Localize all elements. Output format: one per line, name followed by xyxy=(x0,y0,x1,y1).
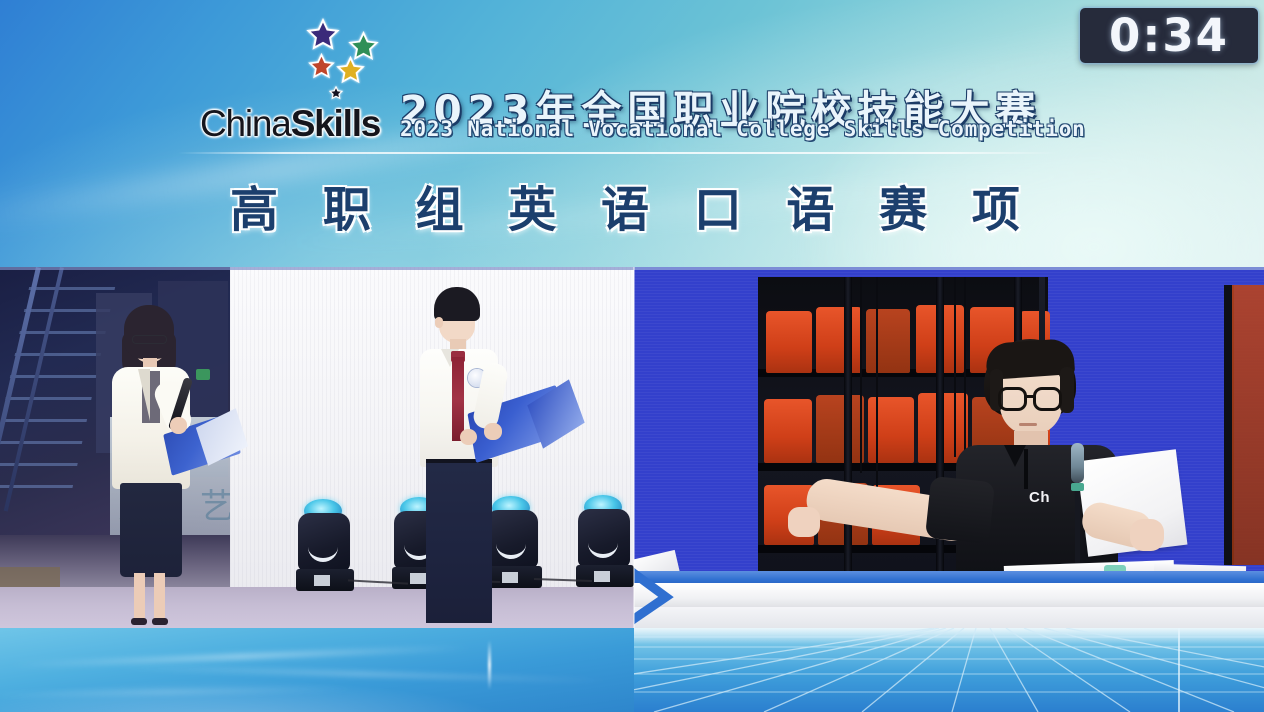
male-student-presenter xyxy=(408,287,528,617)
chinaskills-logo: ChinaSkills xyxy=(196,8,406,148)
desk-microphone xyxy=(1071,443,1084,575)
judge-desk-front xyxy=(634,607,1264,628)
right-side-seats xyxy=(1232,285,1264,565)
sparkle-highlight xyxy=(488,640,491,690)
star-red-icon xyxy=(308,53,335,80)
event-subtitle-chinese: 高 职 组 英 语 口 语 赛 项 xyxy=(0,170,1264,240)
stage-camera-feed[interactable]: 文 艺 xyxy=(0,267,634,628)
feed-top-edge xyxy=(634,267,1264,270)
female-presenter xyxy=(104,305,214,595)
stage-light-1 xyxy=(296,499,354,595)
polo-shirt-logo-text: Ch xyxy=(1029,489,1050,506)
bottom-right-grid-band xyxy=(634,628,1264,712)
desk-chevron-accent xyxy=(634,567,716,625)
judge-camera-feed[interactable]: Ch xyxy=(634,267,1264,628)
feed-top-edge xyxy=(0,267,634,270)
glasses-icon xyxy=(998,387,1027,411)
broadcast-screen: ChinaSkills 2023年全国职业院校技能大赛 2023 Nationa… xyxy=(0,0,1264,712)
wave-streak-3 xyxy=(0,687,355,698)
dual-video-row: 文 艺 xyxy=(0,267,1264,628)
countdown-timer-value: 0:34 xyxy=(1109,13,1229,58)
star-purple-icon xyxy=(306,18,340,52)
star-black-icon xyxy=(329,86,343,100)
glasses-icon xyxy=(132,335,167,344)
wave-streak-1 xyxy=(13,645,469,668)
perspective-grid xyxy=(634,628,1264,712)
wave-streak-2 xyxy=(114,665,608,683)
event-header-banner: ChinaSkills 2023年全国职业院校技能大赛 2023 Nationa… xyxy=(0,0,1264,267)
star-yellow-icon xyxy=(336,56,365,85)
chinaskills-wordmark: ChinaSkills xyxy=(200,103,380,145)
competition-title-english: 2023 National Vocational College Skills … xyxy=(400,117,1086,141)
wordmark-skills: Skills xyxy=(291,103,380,144)
necktie xyxy=(452,357,464,441)
bottom-graphics-row xyxy=(0,628,1264,712)
bottom-left-gradient-band xyxy=(0,628,634,712)
title-divider-rule xyxy=(178,152,1058,154)
wordmark-china: China xyxy=(200,103,291,144)
judge-person: Ch xyxy=(934,339,1164,589)
stage-light-4 xyxy=(576,495,634,591)
countdown-timer: 0:34 xyxy=(1080,8,1258,63)
feed-divider xyxy=(633,267,635,628)
